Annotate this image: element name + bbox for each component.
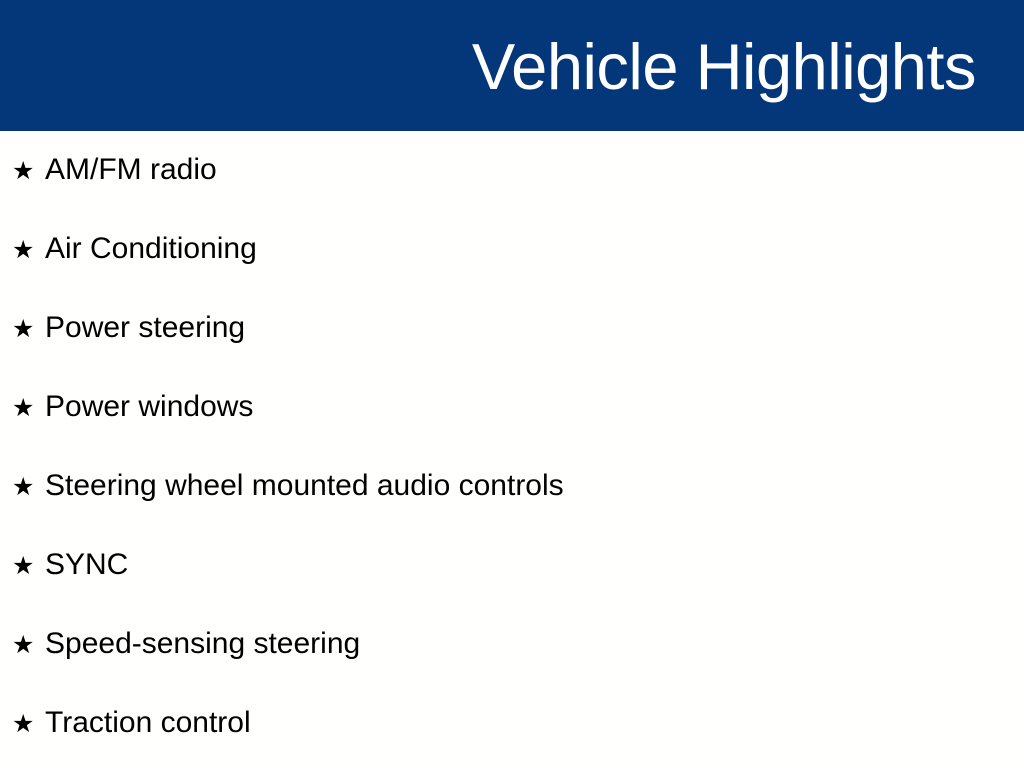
list-item-label: Power steering [45, 311, 245, 346]
star-icon: ★ [12, 158, 45, 183]
list-item: ★ Power steering [0, 289, 1024, 368]
list-item-label: Power windows [45, 390, 253, 425]
star-icon: ★ [12, 711, 45, 736]
list-item-label: Steering wheel mounted audio controls [45, 469, 564, 504]
star-icon: ★ [12, 316, 45, 341]
list-item-label: AM/FM radio [45, 153, 217, 188]
list-item: ★ AM/FM radio [0, 131, 1024, 210]
star-icon: ★ [12, 553, 45, 578]
star-icon: ★ [12, 632, 45, 657]
list-item-label: SYNC [45, 548, 128, 583]
star-icon: ★ [12, 395, 45, 420]
list-item: ★ Air Conditioning [0, 210, 1024, 289]
star-icon: ★ [12, 237, 45, 262]
list-item: ★ Speed-sensing steering [0, 605, 1024, 684]
list-item: ★ SYNC [0, 526, 1024, 605]
vehicle-highlights-list: ★ AM/FM radio ★ Air Conditioning ★ Power… [0, 131, 1024, 763]
list-item: ★ Traction control [0, 684, 1024, 763]
star-icon: ★ [12, 474, 45, 499]
list-item: ★ Power windows [0, 368, 1024, 447]
list-item-label: Air Conditioning [45, 232, 257, 267]
vehicle-highlights-slide: Vehicle Highlights ★ AM/FM radio ★ Air C… [0, 0, 1024, 768]
list-item-label: Speed-sensing steering [45, 627, 360, 662]
slide-header-bar: Vehicle Highlights [0, 0, 1024, 131]
page-title: Vehicle Highlights [472, 34, 976, 99]
list-item-label: Traction control [45, 706, 251, 741]
list-item: ★ Steering wheel mounted audio controls [0, 447, 1024, 526]
